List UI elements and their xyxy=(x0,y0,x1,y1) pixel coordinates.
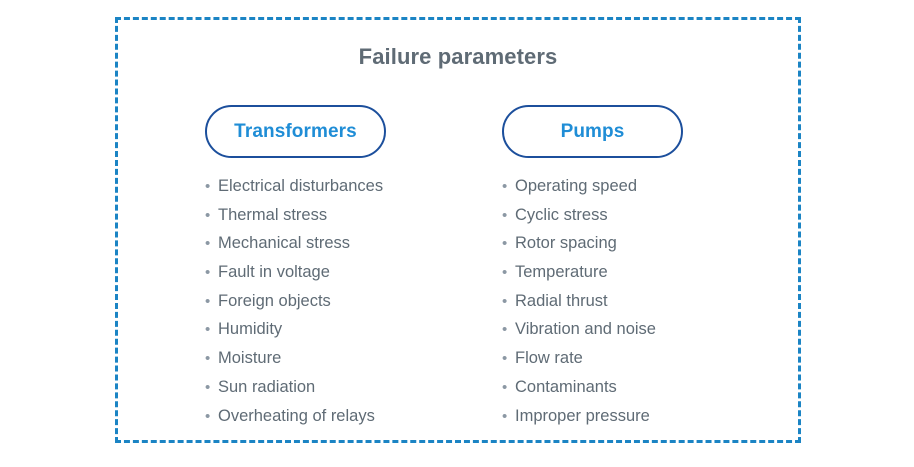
bullet-icon: • xyxy=(502,173,515,202)
bullet-icon: • xyxy=(205,316,218,345)
list-item: •Electrical disturbances xyxy=(205,172,383,201)
list-item-label: Sun radiation xyxy=(218,373,315,402)
list-item-label: Rotor spacing xyxy=(515,229,617,258)
list-item-label: Foreign objects xyxy=(218,287,331,316)
bullet-icon: • xyxy=(502,259,515,288)
parameter-list: •Operating speed•Cyclic stress•Rotor spa… xyxy=(502,172,656,430)
list-item-label: Vibration and noise xyxy=(515,315,656,344)
list-item-label: Improper pressure xyxy=(515,402,650,431)
bullet-icon: • xyxy=(502,374,515,403)
list-item: •Flow rate xyxy=(502,344,656,373)
category-pill-label: Pumps xyxy=(561,121,625,143)
bullet-icon: • xyxy=(205,288,218,317)
list-item: •Thermal stress xyxy=(205,201,383,230)
list-item-label: Humidity xyxy=(218,315,282,344)
list-item: •Improper pressure xyxy=(502,402,656,431)
list-item: •Radial thrust xyxy=(502,287,656,316)
list-item-label: Radial thrust xyxy=(515,287,608,316)
category-pill-label: Transformers xyxy=(234,121,357,143)
bullet-icon: • xyxy=(205,173,218,202)
list-item-label: Electrical disturbances xyxy=(218,172,383,201)
columns-container: Transformers•Electrical disturbances•The… xyxy=(118,20,798,440)
list-item: •Sun radiation xyxy=(205,373,383,402)
bullet-icon: • xyxy=(205,374,218,403)
list-item: •Humidity xyxy=(205,315,383,344)
bullet-icon: • xyxy=(502,403,515,432)
list-item-label: Fault in voltage xyxy=(218,258,330,287)
list-item: •Overheating of relays xyxy=(205,402,383,431)
list-item-label: Temperature xyxy=(515,258,608,287)
category-pill-1[interactable]: Pumps xyxy=(502,105,683,158)
list-item: •Fault in voltage xyxy=(205,258,383,287)
bullet-icon: • xyxy=(205,259,218,288)
list-item: •Contaminants xyxy=(502,373,656,402)
bullet-icon: • xyxy=(205,345,218,374)
diagram-canvas: Failure parameters Transformers•Electric… xyxy=(0,0,914,467)
bullet-icon: • xyxy=(205,230,218,259)
list-item-label: Operating speed xyxy=(515,172,637,201)
bullet-icon: • xyxy=(502,345,515,374)
bullet-icon: • xyxy=(502,202,515,231)
list-item: •Moisture xyxy=(205,344,383,373)
list-item-label: Moisture xyxy=(218,344,281,373)
list-item-label: Flow rate xyxy=(515,344,583,373)
bullet-icon: • xyxy=(205,202,218,231)
list-item: •Cyclic stress xyxy=(502,201,656,230)
list-item: •Temperature xyxy=(502,258,656,287)
list-item-label: Overheating of relays xyxy=(218,402,375,431)
bullet-icon: • xyxy=(502,230,515,259)
bullet-icon: • xyxy=(502,316,515,345)
list-item: •Vibration and noise xyxy=(502,315,656,344)
bullet-icon: • xyxy=(502,288,515,317)
list-item-label: Mechanical stress xyxy=(218,229,350,258)
list-item: •Rotor spacing xyxy=(502,229,656,258)
dashed-frame-border: Failure parameters Transformers•Electric… xyxy=(115,17,801,443)
bullet-icon: • xyxy=(205,403,218,432)
parameter-list: •Electrical disturbances•Thermal stress•… xyxy=(205,172,383,430)
list-item-label: Thermal stress xyxy=(218,201,327,230)
list-item-label: Contaminants xyxy=(515,373,617,402)
list-item-label: Cyclic stress xyxy=(515,201,608,230)
list-item: •Foreign objects xyxy=(205,287,383,316)
category-pill-0[interactable]: Transformers xyxy=(205,105,386,158)
list-item: •Operating speed xyxy=(502,172,656,201)
list-item: •Mechanical stress xyxy=(205,229,383,258)
